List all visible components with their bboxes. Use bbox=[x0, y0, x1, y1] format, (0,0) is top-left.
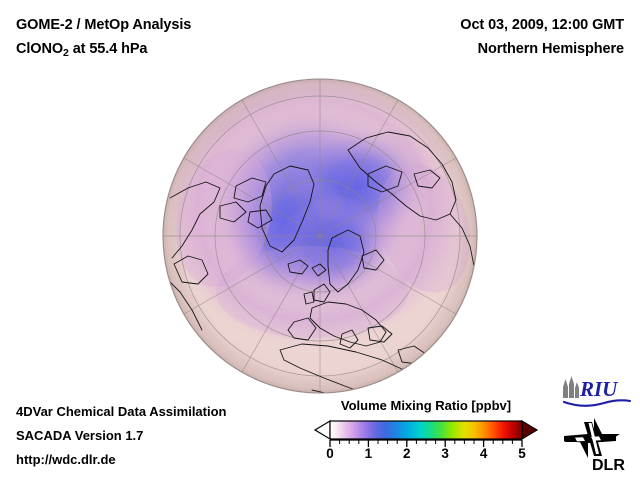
riu-logo: RIU bbox=[560, 374, 632, 408]
colorbar-title: Volume Mixing Ratio [ppbv] bbox=[312, 398, 540, 413]
riu-tower-icon bbox=[563, 376, 579, 398]
colorbar-svg bbox=[312, 418, 540, 448]
colorbar-tick-1: 1 bbox=[356, 446, 380, 461]
colorbar-gradient bbox=[330, 421, 522, 439]
colorbar-tick-4: 4 bbox=[472, 446, 496, 461]
header-species-level: ClONO2 at 55.4 hPa bbox=[16, 41, 147, 57]
limb-shading bbox=[163, 79, 477, 393]
colorbar-max-arrow bbox=[522, 421, 537, 439]
colorbar-tick-5: 5 bbox=[510, 446, 534, 461]
orthographic-projection-svg bbox=[162, 78, 478, 394]
header-instrument-title: GOME-2 / MetOp Analysis bbox=[16, 17, 191, 33]
dlr-logo-text: DLR bbox=[592, 457, 625, 474]
colorbar-tick-2: 2 bbox=[395, 446, 419, 461]
visualization-page: GOME-2 / MetOp Analysis ClONO2 at 55.4 h… bbox=[0, 0, 640, 480]
species-name: ClONO bbox=[16, 41, 63, 57]
riu-swoosh-icon bbox=[564, 400, 630, 405]
coastline-central-asia bbox=[450, 328, 472, 348]
riu-logo-text: RIU bbox=[579, 377, 619, 401]
coastline-arabian-peninsula bbox=[424, 368, 450, 390]
header-region: Northern Hemisphere bbox=[478, 41, 624, 57]
globe-map bbox=[162, 78, 478, 394]
footer-method: 4DVar Chemical Data Assimilation bbox=[16, 404, 227, 419]
colorbar: Volume Mixing Ratio [ppbv] bbox=[312, 398, 540, 472]
footer-version: SACADA Version 1.7 bbox=[16, 428, 143, 443]
colorbar-min-arrow bbox=[315, 421, 330, 439]
dlr-logo: DLR bbox=[558, 412, 634, 474]
footer-url[interactable]: http://wdc.dlr.de bbox=[16, 452, 116, 467]
colorbar-tick-0: 0 bbox=[318, 446, 342, 461]
species-subscript: 2 bbox=[63, 47, 69, 59]
colorbar-tick-3: 3 bbox=[433, 446, 457, 461]
coastline-arabia-red-sea bbox=[418, 378, 454, 394]
header-timestamp: Oct 03, 2009, 12:00 GMT bbox=[460, 17, 624, 33]
pressure-level-text: at 55.4 hPa bbox=[69, 41, 148, 57]
